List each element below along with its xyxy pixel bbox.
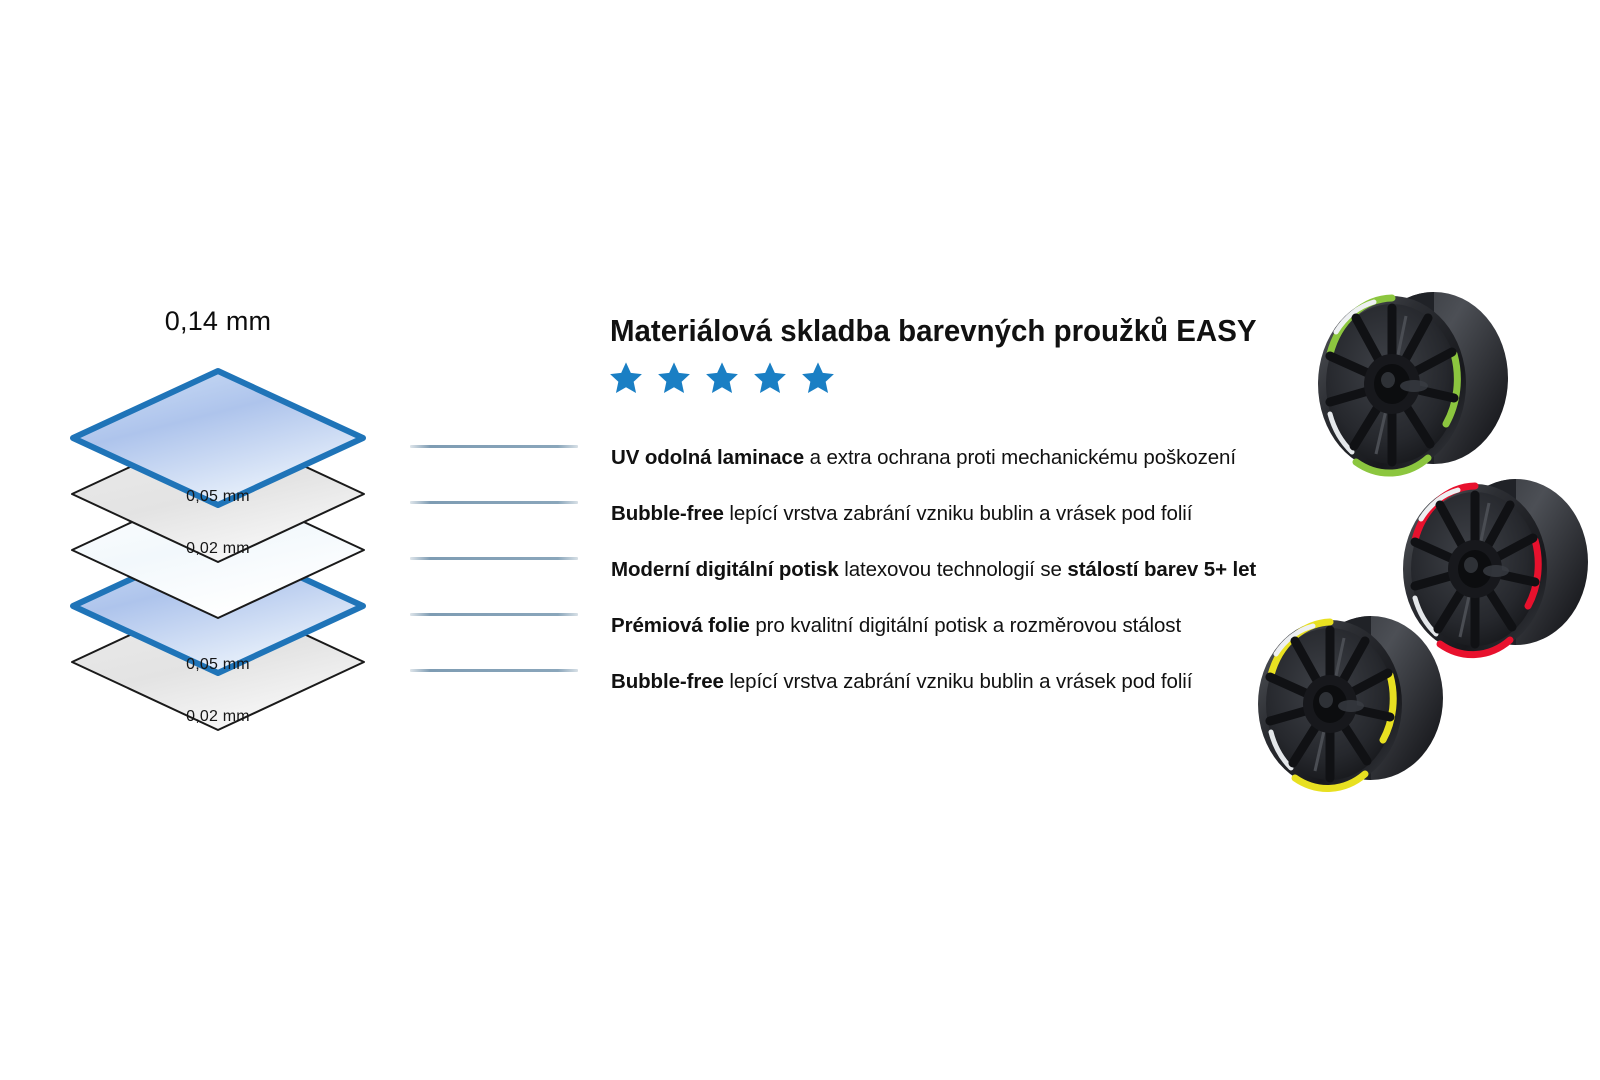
feature-item: UV odolná laminace a extra ochrana proti… bbox=[611, 430, 1331, 486]
feature-lead: Bubble-free bbox=[611, 502, 724, 525]
feature-list: UV odolná laminace a extra ochrana proti… bbox=[611, 430, 1331, 710]
layer-thickness-label: 0,05 mm bbox=[70, 656, 366, 674]
feature-lead: Prémiová folie bbox=[611, 614, 750, 637]
feature-text: Bubble-free lepící vrstva zabrání vzniku… bbox=[611, 670, 1192, 694]
layer-shape-blue bbox=[70, 368, 366, 508]
feature-rest: lepící vrstva zabrání vzniku bublin a vr… bbox=[724, 502, 1193, 525]
wheel-green bbox=[1296, 286, 1536, 482]
wheel-yellow bbox=[1238, 610, 1470, 798]
feature-item: Bubble-free lepící vrstva zabrání vzniku… bbox=[611, 486, 1331, 542]
feature-lead: UV odolná laminace bbox=[611, 446, 804, 469]
star-icon bbox=[608, 360, 644, 396]
motorcycle-wheel-icon bbox=[1238, 610, 1470, 798]
total-thickness-label: 0,14 mm bbox=[0, 306, 436, 337]
star-rating bbox=[608, 360, 836, 396]
feature-lead: Bubble-free bbox=[611, 670, 724, 693]
layer-thickness-label: 0,05 mm bbox=[70, 488, 366, 506]
connector-line-2 bbox=[410, 501, 578, 504]
connector-line-5 bbox=[410, 669, 578, 672]
layer-laminate: 0,05 mm bbox=[70, 368, 366, 508]
page-title: Materiálová skladba barevných proužků EA… bbox=[610, 314, 1257, 348]
feature-text: Bubble-free lepící vrstva zabrání vzniku… bbox=[611, 502, 1192, 526]
feature-item: Moderní digitální potisk latexovou techn… bbox=[611, 542, 1331, 598]
connector-line-1 bbox=[410, 445, 578, 448]
motorcycle-wheel-icon bbox=[1296, 286, 1536, 482]
layer-thickness-label: 0,02 mm bbox=[70, 540, 366, 558]
star-icon bbox=[752, 360, 788, 396]
feature-text: UV odolná laminace a extra ochrana proti… bbox=[611, 446, 1236, 470]
star-icon bbox=[800, 360, 836, 396]
connector-line-3 bbox=[410, 557, 578, 560]
layer-thickness-label: 0,02 mm bbox=[70, 708, 366, 726]
connector-line-4 bbox=[410, 613, 578, 616]
feature-lead: Moderní digitální potisk bbox=[611, 558, 839, 581]
feature-tail: stálostí barev 5+ let bbox=[1067, 558, 1256, 581]
star-icon bbox=[656, 360, 692, 396]
feature-rest: latexovou technologií se bbox=[839, 558, 1068, 581]
layer-stack-diagram: 0,14 mm 0,05 mm bbox=[0, 0, 420, 760]
star-icon bbox=[704, 360, 740, 396]
feature-item: Bubble-free lepící vrstva zabrání vzniku… bbox=[611, 654, 1331, 710]
feature-item: Prémiová folie pro kvalitní digitální po… bbox=[611, 598, 1331, 654]
feature-text: Moderní digitální potisk latexovou techn… bbox=[611, 558, 1256, 582]
feature-rest: a extra ochrana proti mechanickému poško… bbox=[804, 446, 1236, 469]
feature-text: Prémiová folie pro kvalitní digitální po… bbox=[611, 614, 1181, 638]
feature-rest: pro kvalitní digitální potisk a rozměrov… bbox=[750, 614, 1181, 637]
feature-rest: lepící vrstva zabrání vzniku bublin a vr… bbox=[724, 670, 1193, 693]
